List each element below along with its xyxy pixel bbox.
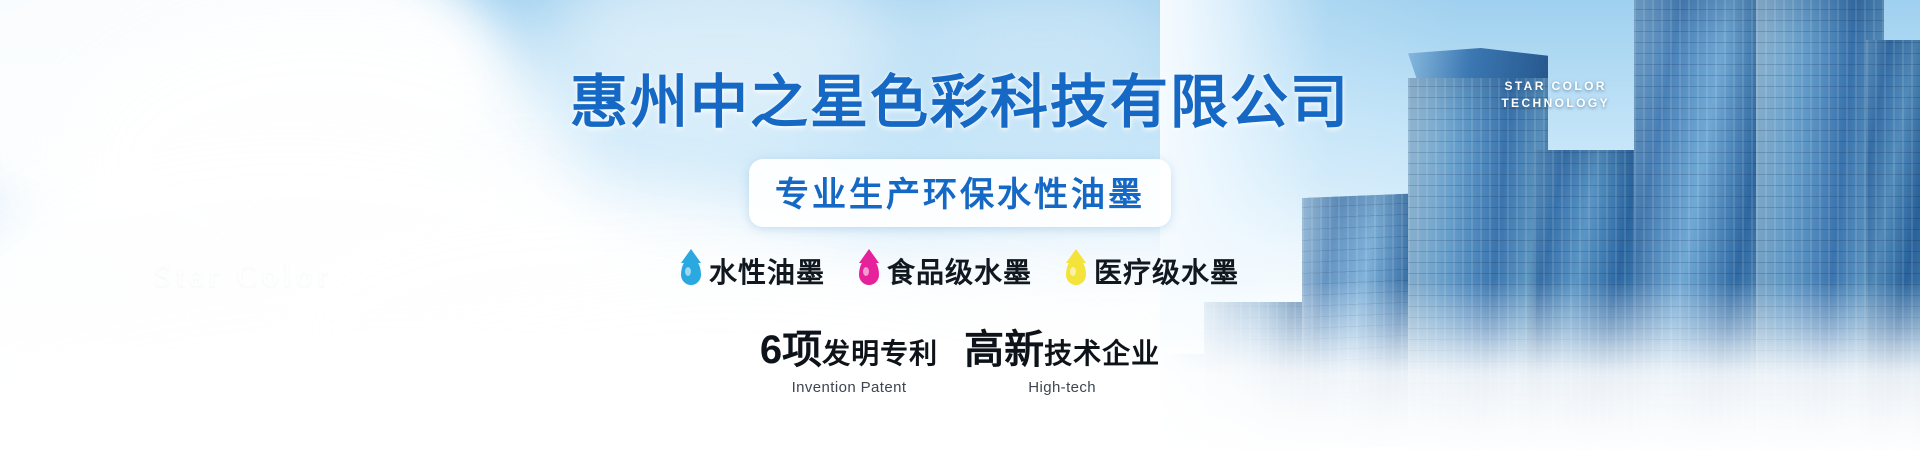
credential-item: 高新 技术企业 High-tech — [964, 317, 1160, 396]
feature-label: 医疗级水墨 — [1094, 251, 1239, 291]
credential-list: 6项 发明专利 Invention Patent 高新 技术企业 High-te… — [760, 317, 1160, 396]
slogan-badge: 专业生产环保水性油墨 — [749, 159, 1171, 227]
feature-item: 水性油墨 — [681, 251, 825, 291]
feature-item: 医疗级水墨 — [1066, 251, 1239, 291]
banner-content: 惠州中之星色彩科技有限公司 专业生产环保水性油墨 水性油墨 食品级水墨 医疗级水… — [0, 0, 1920, 450]
credential-chinese: 6项 发明专利 — [760, 317, 938, 375]
credential-english: Invention Patent — [792, 379, 907, 396]
feature-item: 食品级水墨 — [859, 251, 1032, 291]
water-drop-icon — [681, 258, 701, 285]
credential-number: 6项 — [760, 317, 822, 375]
feature-label: 食品级水墨 — [887, 251, 1032, 291]
credential-number: 高新 — [964, 317, 1044, 375]
credential-english: High-tech — [1028, 379, 1096, 396]
credential-item: 6项 发明专利 Invention Patent — [760, 317, 938, 396]
water-drop-icon — [859, 258, 879, 285]
credential-text: 发明专利 — [822, 332, 938, 372]
credential-text: 技术企业 — [1044, 332, 1160, 372]
feature-list: 水性油墨 食品级水墨 医疗级水墨 — [681, 251, 1239, 291]
feature-label: 水性油墨 — [709, 251, 825, 291]
water-drop-icon — [1066, 258, 1086, 285]
slogan-text: 专业生产环保水性油墨 — [775, 167, 1145, 216]
promo-banner: STAR COLOR TECHNOLOGY Star Color 惠州中之星色彩… — [0, 0, 1920, 450]
company-title: 惠州中之星色彩科技有限公司 — [570, 55, 1350, 139]
credential-chinese: 高新 技术企业 — [964, 317, 1160, 375]
